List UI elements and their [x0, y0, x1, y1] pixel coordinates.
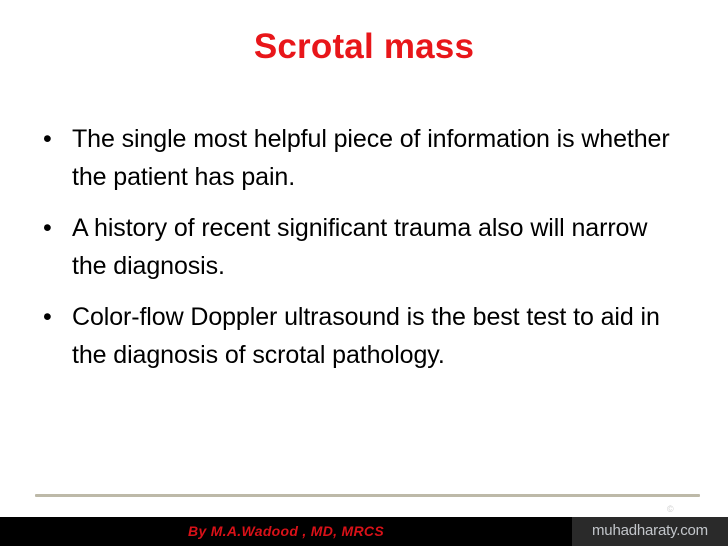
- footer-divider-rule: [35, 494, 700, 497]
- slide-canvas: Scrotal mass • The single most helpful p…: [0, 0, 728, 546]
- list-item: • Color-flow Doppler ultrasound is the b…: [38, 298, 688, 374]
- watermark-label: muhadharaty.com: [572, 520, 728, 542]
- bullet-point-icon: •: [43, 298, 52, 336]
- footer-author-credit: By M.A.Wadood , MD, MRCS: [0, 519, 572, 543]
- bullet-list: • The single most helpful piece of infor…: [38, 120, 688, 374]
- list-item-text: A history of recent significant trauma a…: [72, 209, 688, 285]
- list-item: • The single most helpful piece of infor…: [38, 120, 688, 196]
- list-item: • A history of recent significant trauma…: [38, 209, 688, 285]
- list-item-text: Color-flow Doppler ultrasound is the bes…: [72, 298, 688, 374]
- bullet-point-icon: •: [43, 120, 52, 158]
- copyright-icon: ©: [667, 504, 674, 514]
- list-item-text: The single most helpful piece of informa…: [72, 120, 688, 196]
- page-title: Scrotal mass: [0, 26, 728, 68]
- bullet-point-icon: •: [43, 209, 52, 247]
